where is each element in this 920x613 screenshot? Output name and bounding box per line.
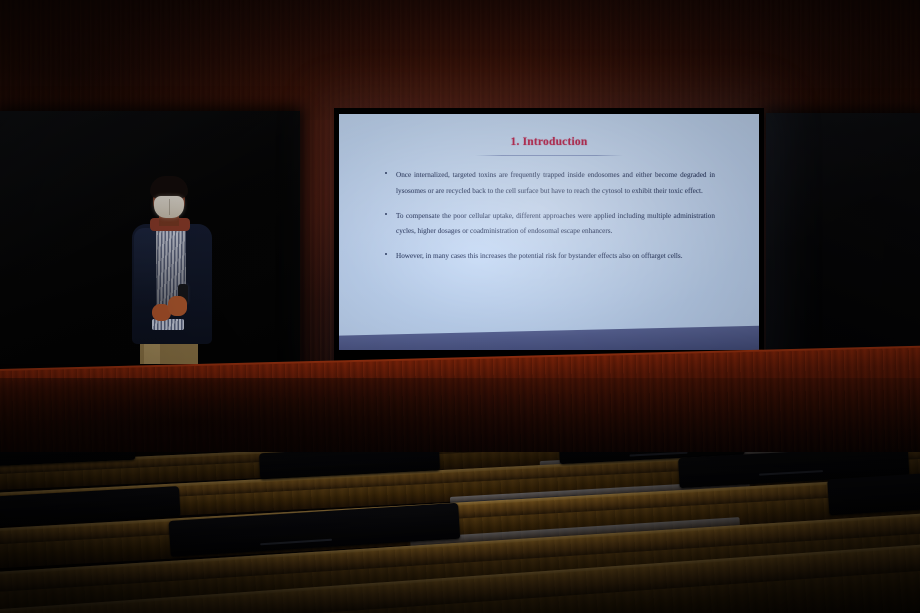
wall-top-shadow [0,0,920,120]
audience-seating [0,452,920,613]
right-display-panel[interactable] [766,113,920,363]
bullet-text: Once internalized, targeted toxins are f… [396,168,715,199]
bullet-point-icon [385,213,387,215]
bullet-text: However, in many cases this increases th… [396,249,715,265]
right-panel-sheen [766,113,920,363]
face-mask-icon [154,196,184,218]
slide-title: 1. Introduction [339,136,759,148]
list-item: However, in many cases this increases th… [385,249,715,265]
list-item: To compensate the poor cellular uptake, … [385,209,715,240]
slide-bullet-list: Once internalized, targeted toxins are f… [385,168,715,274]
slide-footer-band [339,325,759,350]
presenter-right-hand [168,296,187,316]
lecture-hall-scene: 1. Introduction Once internalized, targe… [0,0,920,613]
projection-screen[interactable]: 1. Introduction Once internalized, targe… [334,108,764,363]
slide-title-underline [475,155,623,156]
bullet-point-icon [385,253,387,255]
list-item: Once internalized, targeted toxins are f… [385,168,715,199]
presentation-slide: 1. Introduction Once internalized, targe… [339,114,759,350]
bullet-text: To compensate the poor cellular uptake, … [396,209,715,240]
bullet-point-icon [385,172,387,174]
